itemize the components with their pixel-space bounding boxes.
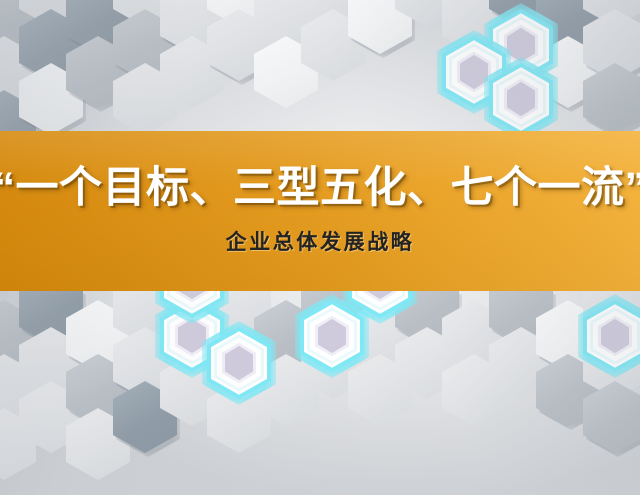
slide-title: “一个目标、三型五化、七个一流”	[0, 166, 640, 211]
title-slide: “一个目标、三型五化、七个一流” 企业总体发展战略	[0, 0, 640, 495]
title-banner: “一个目标、三型五化、七个一流” 企业总体发展战略	[0, 131, 640, 291]
slide-subtitle: 企业总体发展战略	[226, 226, 415, 256]
